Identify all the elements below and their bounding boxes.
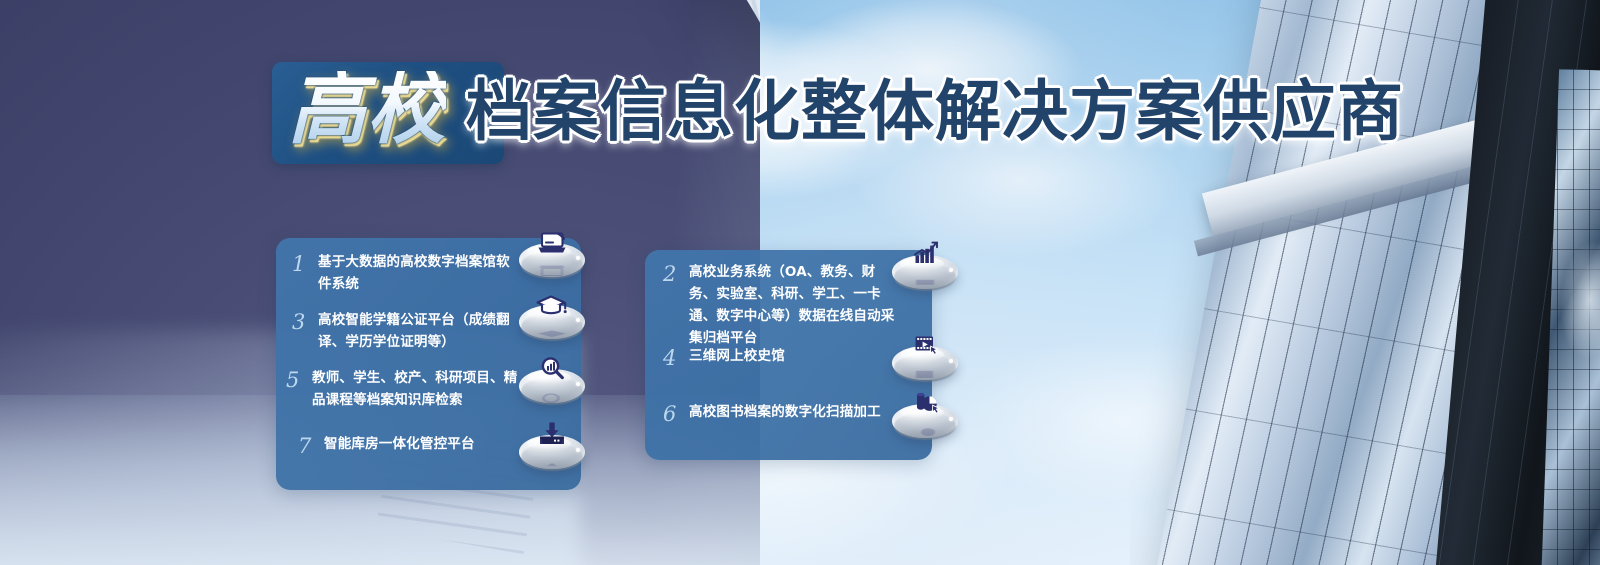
magnifier-chart-icon-reflection <box>535 388 569 405</box>
list-item-label: 高校图书档案的数字化扫描加工 <box>689 402 881 424</box>
list-item-number: 7 <box>298 433 324 459</box>
pedestal-search[interactable] <box>519 357 585 407</box>
bar-chart-trend-icon-reflection <box>908 274 942 291</box>
pedestal-highlight-dot <box>949 417 953 421</box>
magnifier-chart-icon <box>535 355 569 385</box>
pie-chart-cursor-icon-reflection <box>908 423 942 440</box>
download-archive-icon-reflection <box>535 454 569 471</box>
video-film-cursor-icon-reflection <box>908 365 942 382</box>
graduation-cap-icon-reflection <box>535 324 569 341</box>
list-item-label: 基于大数据的高校数字档案馆软件系统 <box>318 252 522 296</box>
laptop-document-icon-reflection <box>535 262 569 279</box>
tower-cloud-reflection <box>1556 238 1600 362</box>
right-panel-rows: 2 高校业务系统（OA、教务、财务、实验室、科研、学工、一卡通、数字中心等）数据… <box>645 250 932 460</box>
pedestal-laptop[interactable] <box>519 231 585 281</box>
pedestal-highlight-dot <box>576 448 580 452</box>
list-item-label: 智能库房一体化管控平台 <box>324 434 475 456</box>
list-item[interactable]: 4 三维网上校史馆 <box>663 346 899 371</box>
list-item-number: 4 <box>663 345 689 371</box>
pedestal-highlight-dot <box>949 359 953 363</box>
list-item-number: 2 <box>663 261 689 287</box>
page-title-rest: 档案信息化整体解决方案供应商 <box>466 79 1404 145</box>
list-item-number: 5 <box>286 367 312 393</box>
pedestal-pie-chart[interactable] <box>892 392 958 442</box>
laptop-document-icon <box>535 229 569 259</box>
graduation-cap-icon <box>535 291 569 321</box>
list-item-number: 3 <box>292 309 318 335</box>
list-item[interactable]: 1 基于大数据的高校数字档案馆软件系统 <box>292 252 522 296</box>
pedestal-bar-chart[interactable] <box>892 243 958 293</box>
list-item[interactable]: 3 高校智能学籍公证平台（成绩翻译、学历学位证明等） <box>292 310 522 354</box>
list-item[interactable]: 2 高校业务系统（OA、教务、财务、实验室、科研、学工、一卡通、数字中心等）数据… <box>663 262 899 349</box>
list-item[interactable]: 7 智能库房一体化管控平台 <box>298 434 528 459</box>
download-archive-icon <box>535 421 569 451</box>
pedestal-highlight-dot <box>576 256 580 260</box>
list-item[interactable]: 6 高校图书档案的数字化扫描加工 <box>663 402 899 427</box>
pedestal-highlight-dot <box>576 318 580 322</box>
list-item[interactable]: 5 教师、学生、校产、科研项目、精品课程等档案知识库检索 <box>286 368 530 412</box>
pedestal-highlight-dot <box>949 268 953 272</box>
right-solutions-panel: 2 高校业务系统（OA、教务、财务、实验室、科研、学工、一卡通、数字中心等）数据… <box>645 250 932 460</box>
page-title-highlight: 高校 <box>288 71 446 153</box>
bar-chart-trend-icon <box>908 241 942 271</box>
list-item-label: 高校智能学籍公证平台（成绩翻译、学历学位证明等） <box>318 310 522 354</box>
list-item-number: 6 <box>663 401 689 427</box>
list-item-label: 高校业务系统（OA、教务、财务、实验室、科研、学工、一卡通、数字中心等）数据在线… <box>689 262 899 349</box>
pie-chart-cursor-icon <box>908 390 942 420</box>
pedestal-video[interactable] <box>892 334 958 384</box>
pedestal-highlight-dot <box>576 382 580 386</box>
pedestal-download[interactable] <box>519 423 585 473</box>
list-item-label: 三维网上校史馆 <box>689 346 785 368</box>
list-item-label: 教师、学生、校产、科研项目、精品课程等档案知识库检索 <box>312 368 530 412</box>
page-title: 高校 档案信息化整体解决方案供应商 <box>272 62 1404 162</box>
list-item-number: 1 <box>292 251 318 277</box>
pedestal-graduation-cap[interactable] <box>519 293 585 343</box>
banner: 高校 档案信息化整体解决方案供应商 1 基于大数据的高校数字档案馆软件系统 3 … <box>0 0 1600 565</box>
video-film-cursor-icon <box>908 332 942 362</box>
